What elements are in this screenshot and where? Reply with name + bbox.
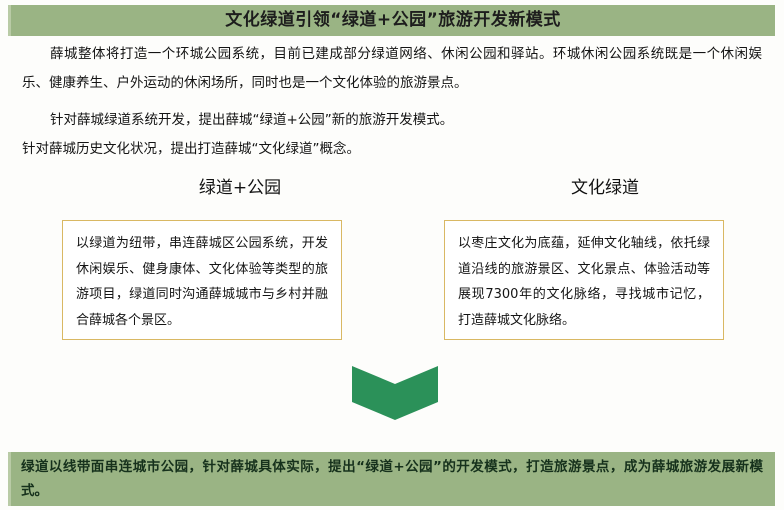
page-title: 文化绿道引领“绿道+公园”旅游开发新模式 (225, 12, 561, 29)
intro-paragraph-2: 针对薛城绿道系统开发，提出薛城“绿道+公园”新的旅游开发模式。 (22, 106, 762, 135)
concept-box-greenway-park: 以绿道为纽带，串连薛城区公园系统，开发休闲娱乐、健身康体、文化体验等类型的旅游项… (62, 220, 342, 340)
intro-paragraph-3: 针对薛城历史文化状况，提出打造薛城“文化绿道”概念。 (22, 135, 762, 164)
conclusion-banner: 绿道以线带面串连城市公园，针对薛城具体实际，提出“绿道+公园”的开发模式，打造旅… (8, 452, 775, 506)
chevron-down-icon (352, 366, 438, 420)
column-heading-greenway-park: 绿道+公园 (140, 176, 340, 200)
page-title-banner: 文化绿道引领“绿道+公园”旅游开发新模式 (8, 5, 775, 36)
intro-paragraph-1: 薛城整体将打造一个环城公园系统，目前已建成部分绿道网络、休闲公园和驿站。环城休闲… (22, 40, 762, 98)
slide-page: 文化绿道引领“绿道+公园”旅游开发新模式 薛城整体将打造一个环城公园系统，目前已… (0, 0, 784, 510)
concept-box-greenway-park-text: 以绿道为纽带，串连薛城区公园系统，开发休闲娱乐、健身康体、文化体验等类型的旅游项… (76, 231, 328, 333)
column-heading-cultural-greenway: 文化绿道 (505, 176, 705, 200)
concept-box-cultural-greenway-text: 以枣庄文化为底蕴，延伸文化轴线，依托绿道沿线的旅游景区、文化景点、体验活动等展现… (458, 231, 710, 333)
conclusion-text: 绿道以线带面串连城市公园，针对薛城具体实际，提出“绿道+公园”的开发模式，打造旅… (21, 455, 763, 503)
concept-box-cultural-greenway: 以枣庄文化为底蕴，延伸文化轴线，依托绿道沿线的旅游景区、文化景点、体验活动等展现… (444, 220, 724, 340)
